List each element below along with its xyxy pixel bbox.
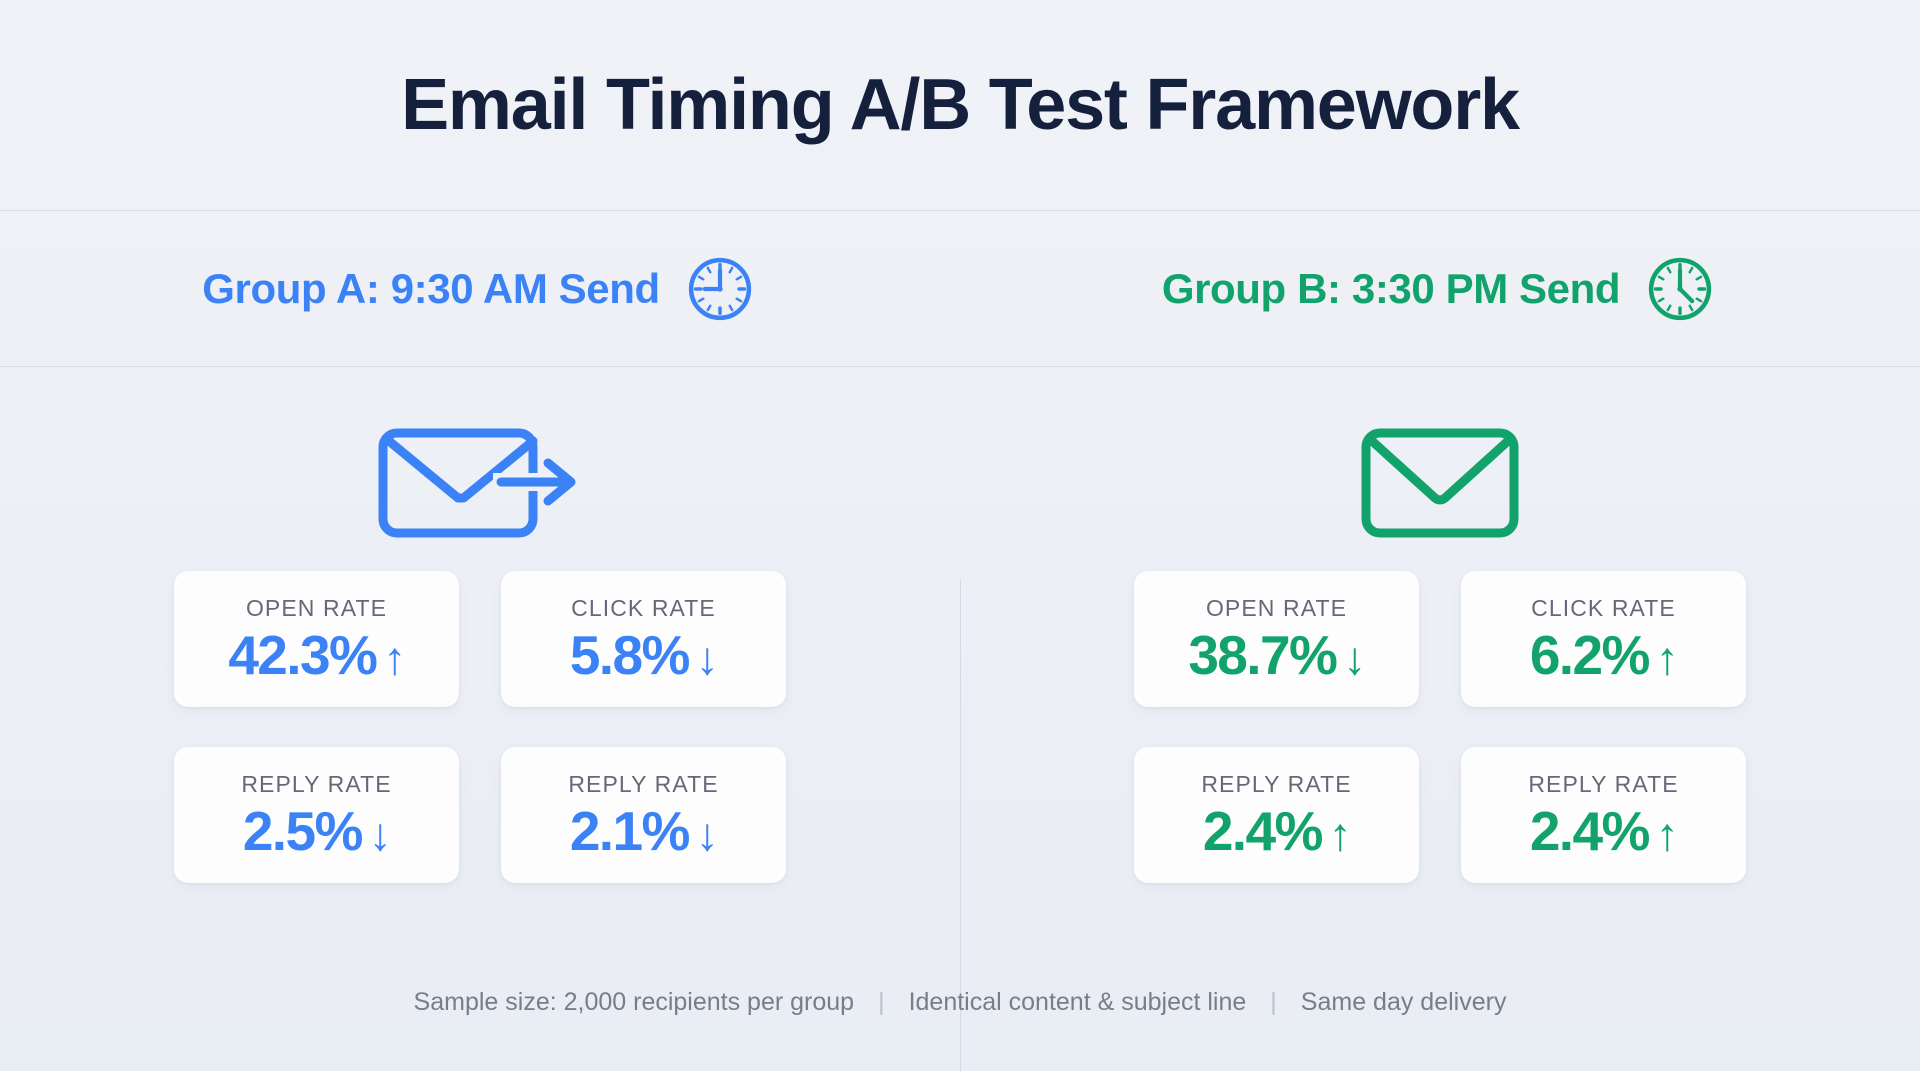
footer-identical-content: Identical content & subject line bbox=[885, 988, 1271, 1017]
metric-number: 38.7% bbox=[1188, 628, 1336, 683]
metric-label: OPEN RATE bbox=[1206, 595, 1347, 622]
group-a-column: OPEN RATE 42.3% ↑ CLICK RATE 5.8% ↓ REPL… bbox=[0, 367, 960, 987]
metric-card[interactable]: REPLY RATE 2.1% ↓ bbox=[501, 747, 786, 883]
footer-notes: Sample size: 2,000 recipients per group … bbox=[0, 988, 1920, 1017]
envelope-icon bbox=[1360, 405, 1520, 555]
group-b-column: OPEN RATE 38.7% ↓ CLICK RATE 6.2% ↑ REPL… bbox=[960, 367, 1920, 987]
metric-value: 2.1% ↓ bbox=[570, 804, 717, 859]
metric-value: 5.8% ↓ bbox=[570, 628, 717, 683]
metric-number: 2.4% bbox=[1203, 804, 1322, 859]
clock-icon bbox=[1642, 251, 1718, 327]
metric-label: REPLY RATE bbox=[241, 771, 391, 798]
trend-down-icon: ↓ bbox=[696, 811, 717, 857]
metric-card[interactable]: REPLY RATE 2.4% ↑ bbox=[1461, 747, 1746, 883]
trend-up-icon: ↑ bbox=[383, 635, 404, 681]
infographic-root: Email Timing A/B Test Framework Group A:… bbox=[0, 0, 1920, 1071]
metric-label: CLICK RATE bbox=[571, 595, 716, 622]
metric-card[interactable]: OPEN RATE 38.7% ↓ bbox=[1134, 571, 1419, 707]
metric-card[interactable]: CLICK RATE 6.2% ↑ bbox=[1461, 571, 1746, 707]
title-band: Email Timing A/B Test Framework bbox=[0, 0, 1920, 210]
trend-down-icon: ↓ bbox=[1343, 635, 1364, 681]
metric-label: REPLY RATE bbox=[1528, 771, 1678, 798]
group-header-b: Group B: 3:30 PM Send bbox=[960, 211, 1920, 366]
metric-number: 6.2% bbox=[1530, 628, 1649, 683]
trend-up-icon: ↑ bbox=[1329, 811, 1350, 857]
envelope-send-icon bbox=[375, 405, 585, 555]
metric-number: 42.3% bbox=[228, 628, 376, 683]
footer-sample-size: Sample size: 2,000 recipients per group bbox=[390, 988, 879, 1017]
metric-value: 2.4% ↑ bbox=[1203, 804, 1350, 859]
metric-value: 6.2% ↑ bbox=[1530, 628, 1677, 683]
metric-value: 42.3% ↑ bbox=[228, 628, 404, 683]
footer-same-day-delivery: Same day delivery bbox=[1277, 988, 1531, 1017]
metric-value: 2.4% ↑ bbox=[1530, 804, 1677, 859]
group-header-a: Group A: 9:30 AM Send bbox=[0, 211, 960, 366]
metric-card[interactable]: CLICK RATE 5.8% ↓ bbox=[501, 571, 786, 707]
group-a-metrics: OPEN RATE 42.3% ↑ CLICK RATE 5.8% ↓ REPL… bbox=[174, 571, 786, 883]
group-b-metrics: OPEN RATE 38.7% ↓ CLICK RATE 6.2% ↑ REPL… bbox=[1134, 571, 1746, 883]
page-title: Email Timing A/B Test Framework bbox=[401, 69, 1519, 141]
metric-number: 5.8% bbox=[570, 628, 689, 683]
groups-columns: OPEN RATE 42.3% ↑ CLICK RATE 5.8% ↓ REPL… bbox=[0, 367, 1920, 987]
metric-label: REPLY RATE bbox=[1201, 771, 1351, 798]
metric-card[interactable]: OPEN RATE 42.3% ↑ bbox=[174, 571, 459, 707]
metric-number: 2.5% bbox=[243, 804, 362, 859]
metric-value: 38.7% ↓ bbox=[1188, 628, 1364, 683]
metric-label: CLICK RATE bbox=[1531, 595, 1676, 622]
trend-down-icon: ↓ bbox=[696, 635, 717, 681]
trend-up-icon: ↑ bbox=[1656, 635, 1677, 681]
group-b-title: Group B: 3:30 PM Send bbox=[1162, 265, 1620, 313]
group-a-title: Group A: 9:30 AM Send bbox=[202, 265, 660, 313]
trend-up-icon: ↑ bbox=[1656, 811, 1677, 857]
metric-card[interactable]: REPLY RATE 2.5% ↓ bbox=[174, 747, 459, 883]
metric-value: 2.5% ↓ bbox=[243, 804, 390, 859]
metric-card[interactable]: REPLY RATE 2.4% ↑ bbox=[1134, 747, 1419, 883]
metric-number: 2.4% bbox=[1530, 804, 1649, 859]
metric-number: 2.1% bbox=[570, 804, 689, 859]
metric-label: REPLY RATE bbox=[568, 771, 718, 798]
group-headers-row: Group A: 9:30 AM Send bbox=[0, 211, 1920, 366]
clock-icon bbox=[682, 251, 758, 327]
trend-down-icon: ↓ bbox=[369, 811, 390, 857]
metric-label: OPEN RATE bbox=[246, 595, 387, 622]
